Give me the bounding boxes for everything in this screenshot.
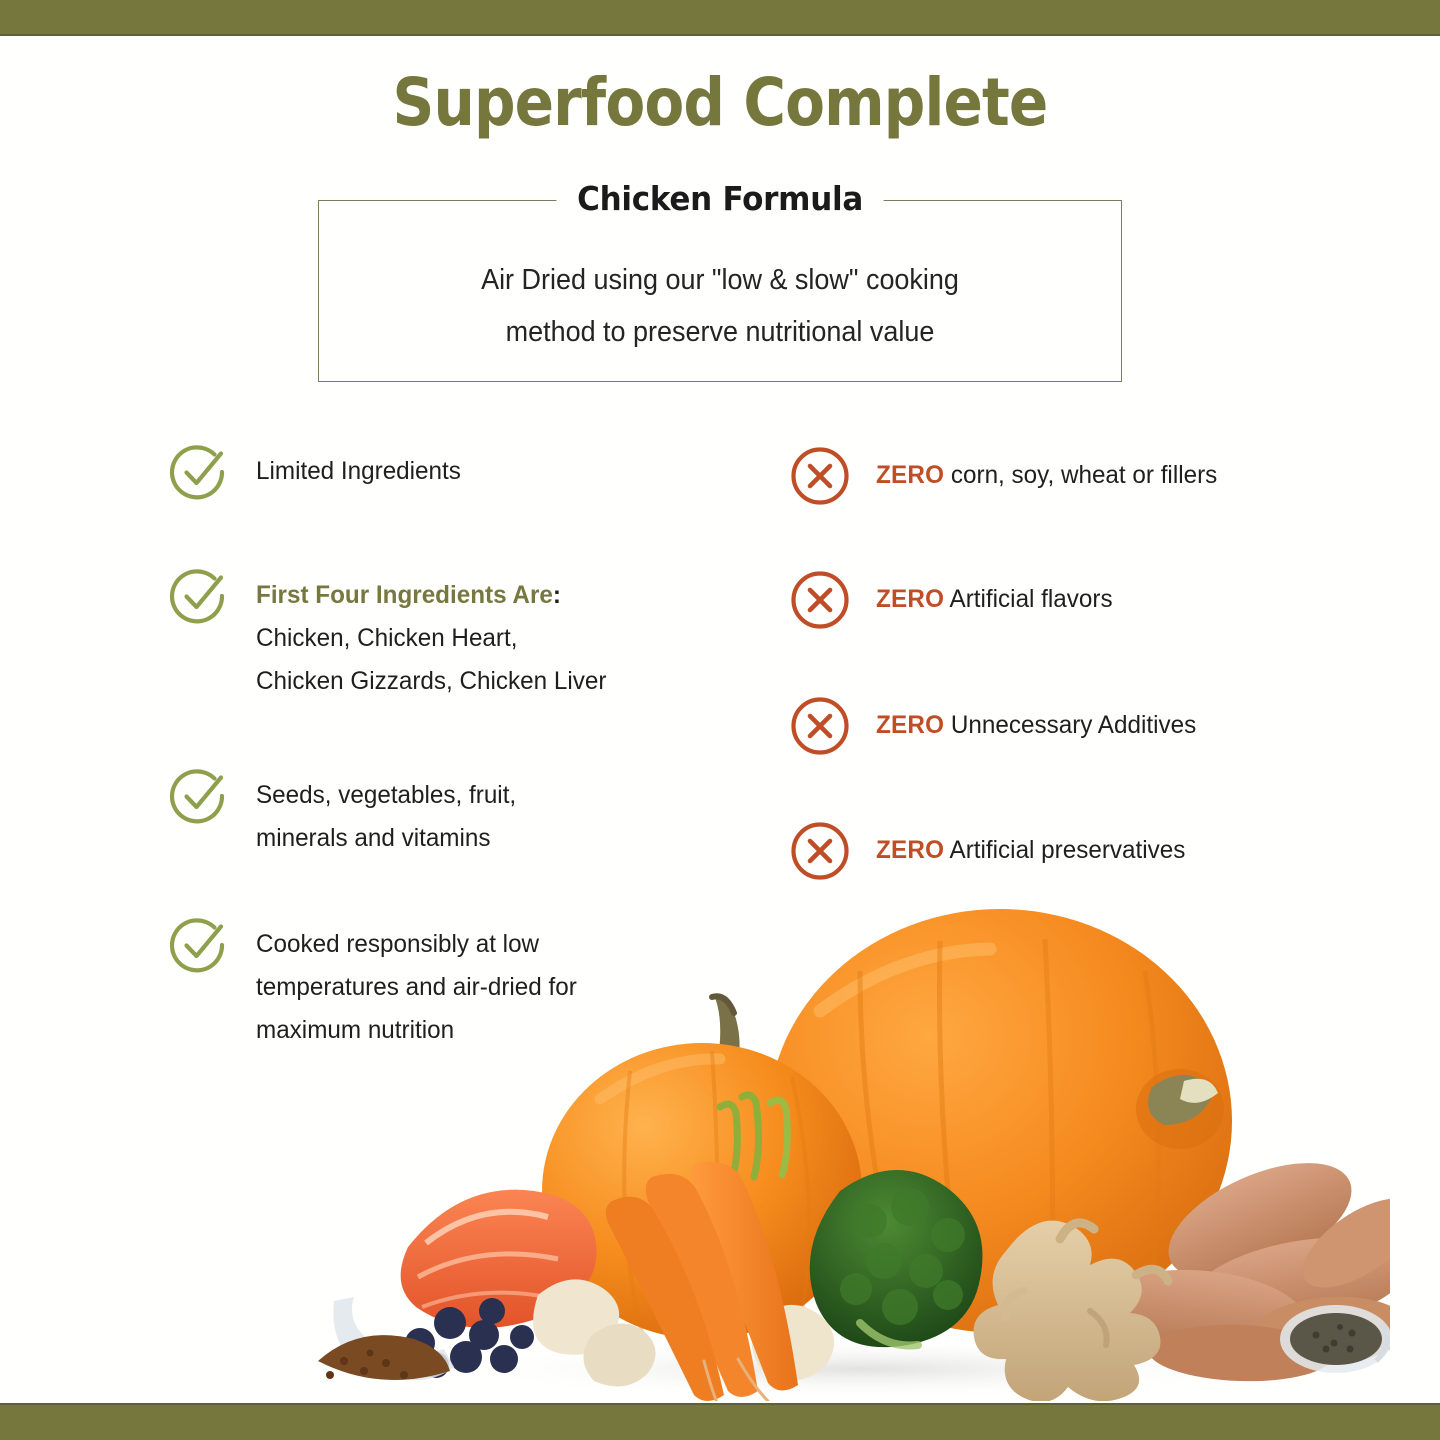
x-circle-icon <box>788 444 852 508</box>
x-circle-icon <box>788 694 852 758</box>
benefit-line-heading: First Four Ingredients Are: <box>256 574 606 617</box>
benefit-text: Limited Ingredients <box>256 440 461 493</box>
exclusion-zero-unnecessary-additives: ZERO Unnecessary Additives <box>788 694 1206 758</box>
check-circle-icon <box>168 913 232 977</box>
top-olive-band <box>0 0 1440 34</box>
exclusion-zero-corn-soy-wheat-fillers: ZERO corn, soy, wheat or fillers <box>788 444 1228 508</box>
exclusion-line: ZERO Unnecessary Additives <box>876 704 1196 747</box>
benefit-text: First Four Ingredients Are: Chicken, Chi… <box>256 564 606 703</box>
exclusion-text: ZERO corn, soy, wheat or fillers <box>876 444 1217 497</box>
exclusion-text: ZERO Artificial preservatives <box>876 819 1185 872</box>
exclusion-detail: Artificial flavors <box>950 585 1113 613</box>
benefit-line: minerals and vitamins <box>256 817 516 860</box>
check-circle-icon <box>168 564 232 628</box>
product-benefits-banner: Superfood Complete Chicken Formula Air D… <box>0 0 1440 1440</box>
benefit-colon: : <box>553 581 561 609</box>
exclusion-zero-artificial-preservatives: ZERO Artificial preservatives <box>788 819 1195 883</box>
content-area: Superfood Complete Chicken Formula Air D… <box>0 36 1440 1405</box>
benefit-seeds-vegetables-fruit: Seeds, vegetables, fruit, minerals and v… <box>168 764 524 860</box>
benefit-first-four-ingredients: First Four Ingredients Are: Chicken, Chi… <box>168 564 617 703</box>
benefit-line: Limited Ingredients <box>256 450 461 493</box>
page-title: Superfood Complete <box>86 64 1353 141</box>
zero-label: ZERO <box>876 836 944 864</box>
exclusion-detail: Artificial preservatives <box>950 836 1186 864</box>
formula-description-line-1: Air Dried using our "low & slow" cooking <box>346 254 1094 306</box>
formula-description: Air Dried using our "low & slow" cooking… <box>346 254 1094 358</box>
check-circle-icon <box>168 440 232 504</box>
produce-photo <box>300 891 1390 1401</box>
zero-label: ZERO <box>876 461 944 489</box>
formula-description-line-2: method to preserve nutritional value <box>346 306 1094 358</box>
benefit-limited-ingredients: Limited Ingredients <box>168 440 467 504</box>
bottom-olive-band <box>0 1405 1440 1440</box>
exclusion-zero-artificial-flavors: ZERO Artificial flavors <box>788 568 1120 632</box>
exclusion-line: ZERO corn, soy, wheat or fillers <box>876 454 1217 497</box>
benefit-line: Seeds, vegetables, fruit, <box>256 774 516 817</box>
x-circle-icon <box>788 819 852 883</box>
benefit-text: Seeds, vegetables, fruit, minerals and v… <box>256 764 516 860</box>
exclusion-text: ZERO Artificial flavors <box>876 568 1113 621</box>
exclusion-line: ZERO Artificial flavors <box>876 578 1113 621</box>
chia-bowl-right <box>1280 1305 1390 1373</box>
check-circle-icon <box>168 764 232 828</box>
benefit-highlight: First Four Ingredients Are <box>256 581 553 609</box>
exclusion-detail: Unnecessary Additives <box>951 711 1196 739</box>
benefit-line: Chicken, Chicken Heart, <box>256 617 606 660</box>
zero-label: ZERO <box>876 585 944 613</box>
benefit-line: Chicken Gizzards, Chicken Liver <box>256 660 606 703</box>
exclusion-text: ZERO Unnecessary Additives <box>876 694 1196 747</box>
exclusion-detail: corn, soy, wheat or fillers <box>951 461 1217 489</box>
zero-label: ZERO <box>876 711 944 739</box>
x-circle-icon <box>788 568 852 632</box>
exclusion-line: ZERO Artificial preservatives <box>876 829 1185 872</box>
